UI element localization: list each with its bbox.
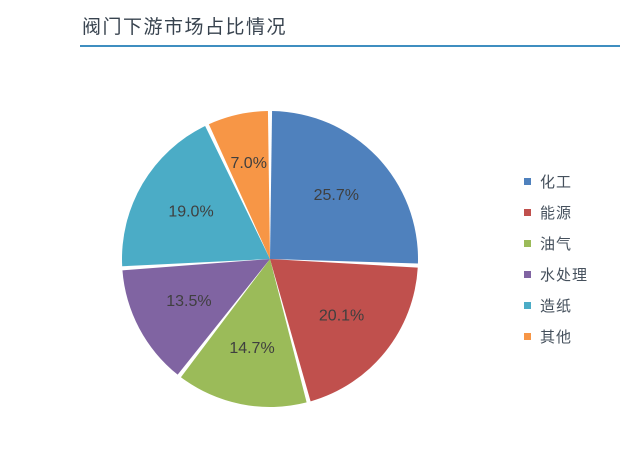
pie-chart-svg: 25.7%20.1%14.7%13.5%19.0%7.0% bbox=[0, 62, 510, 451]
legend-swatch-icon bbox=[524, 333, 531, 340]
legend-swatch-icon bbox=[524, 302, 531, 309]
legend-item-label: 造纸 bbox=[540, 295, 572, 316]
legend-item-label: 水处理 bbox=[540, 264, 588, 285]
legend-item-label: 能源 bbox=[540, 202, 572, 223]
chart-page: 阀门下游市场占比情况 25.7%20.1%14.7%13.5%19.0%7.0%… bbox=[0, 0, 640, 451]
pie-slice-label: 13.5% bbox=[166, 293, 211, 310]
pie-slice-label: 25.7% bbox=[314, 187, 359, 204]
legend-item[interactable]: 化工 bbox=[524, 166, 636, 197]
pie-slice-label: 14.7% bbox=[229, 340, 274, 357]
legend-item-label: 化工 bbox=[540, 171, 572, 192]
legend-swatch-icon bbox=[524, 209, 531, 216]
page-title: 阀门下游市场占比情况 bbox=[82, 14, 287, 40]
legend-item-label: 油气 bbox=[540, 233, 572, 254]
pie-slice-label: 19.0% bbox=[168, 204, 213, 221]
legend-item[interactable]: 油气 bbox=[524, 228, 636, 259]
pie-slice-group bbox=[122, 111, 418, 407]
legend-item[interactable]: 水处理 bbox=[524, 259, 636, 290]
pie-slice-label: 20.1% bbox=[319, 308, 364, 325]
legend-item[interactable]: 其他 bbox=[524, 321, 636, 352]
pie-chart: 25.7%20.1%14.7%13.5%19.0%7.0% bbox=[0, 62, 510, 451]
legend-item[interactable]: 造纸 bbox=[524, 290, 636, 321]
chart-legend: 化工能源油气水处理造纸其他 bbox=[524, 166, 636, 352]
legend-item-label: 其他 bbox=[540, 326, 572, 347]
legend-swatch-icon bbox=[524, 240, 531, 247]
legend-item[interactable]: 能源 bbox=[524, 197, 636, 228]
legend-swatch-icon bbox=[524, 271, 531, 278]
pie-slice-label: 7.0% bbox=[230, 155, 266, 172]
legend-swatch-icon bbox=[524, 178, 531, 185]
title-underline bbox=[80, 45, 620, 47]
page-title-block: 阀门下游市场占比情况 bbox=[80, 14, 620, 54]
